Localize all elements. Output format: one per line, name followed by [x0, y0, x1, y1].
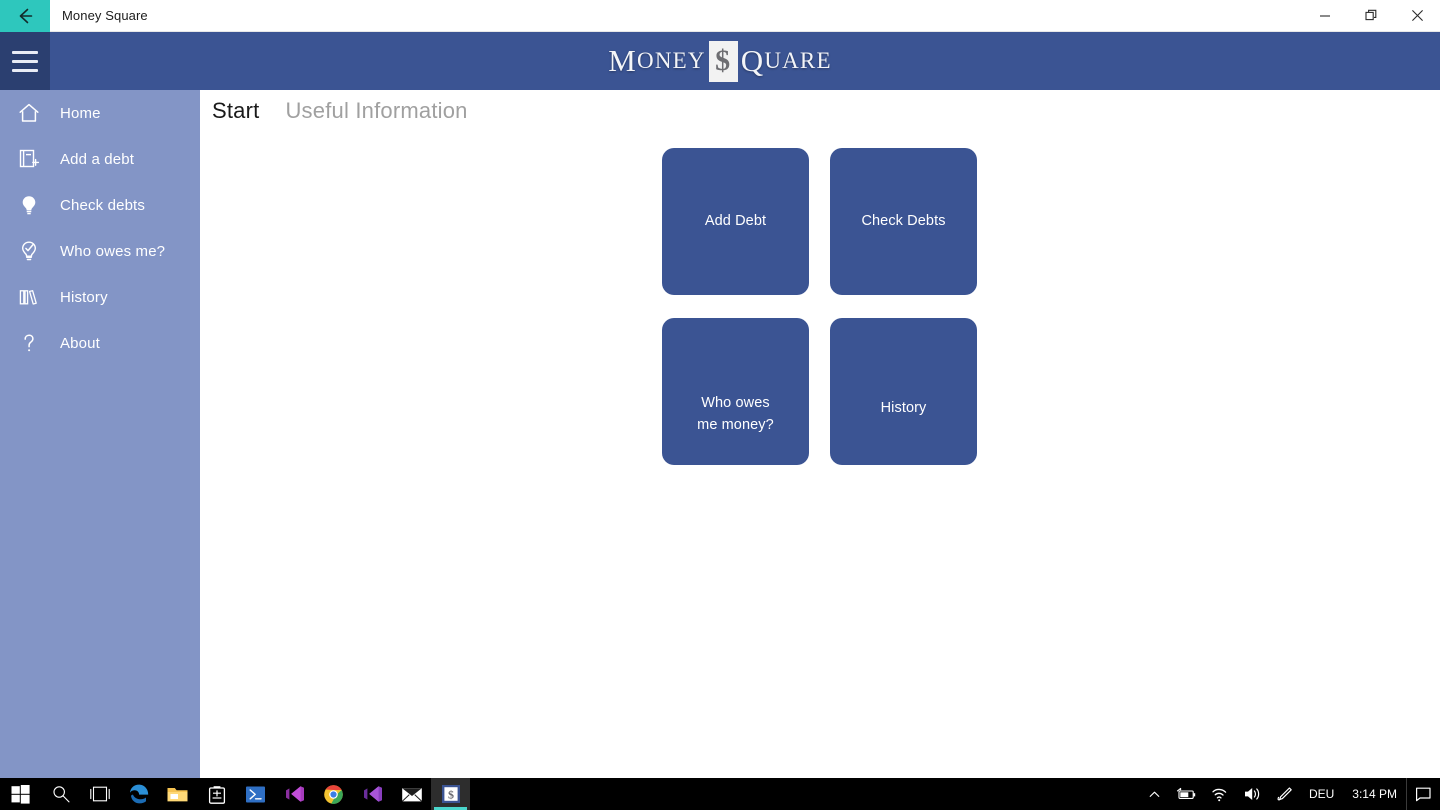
- sidebar-item-who-owes-me[interactable]: Who owes me?: [0, 228, 200, 274]
- chrome-button[interactable]: [314, 778, 353, 810]
- books-icon: [15, 283, 43, 311]
- sidebar-item-about[interactable]: About: [0, 320, 200, 366]
- tray-expand-button[interactable]: [1141, 778, 1168, 810]
- book-plus-icon: [15, 145, 43, 173]
- volume-button[interactable]: [1236, 778, 1269, 810]
- tile-label-who-owes-me-money: Who owes me money?: [689, 393, 782, 435]
- sidebar-label-add-a-debt: Add a debt: [60, 151, 134, 168]
- language-indicator[interactable]: DEU: [1300, 778, 1343, 810]
- pen-ink-icon: [1276, 786, 1293, 803]
- system-tray: DEU 3:14 PM: [1141, 778, 1440, 810]
- sidebar-item-home[interactable]: Home: [0, 90, 200, 136]
- question-mark-icon: [15, 329, 43, 357]
- tile-label-check-debts: Check Debts: [853, 211, 953, 232]
- chrome-icon: [323, 784, 344, 805]
- sidebar-item-history[interactable]: History: [0, 274, 200, 320]
- sidebar-label-about: About: [60, 335, 100, 352]
- mail-button[interactable]: [392, 778, 431, 810]
- brand-uare: UARE: [764, 48, 831, 74]
- minimize-button[interactable]: [1302, 0, 1348, 32]
- close-icon: [1411, 9, 1424, 22]
- svg-text:$: $: [448, 787, 454, 801]
- content-tabs: Start Useful Information: [212, 98, 468, 124]
- brand-text: MONEY $ QUARE: [608, 41, 831, 82]
- brand-oney: ONEY: [637, 48, 706, 74]
- tile-who-owes-me-money[interactable]: Who owes me money?: [662, 318, 809, 465]
- notifications-button[interactable]: [1406, 778, 1440, 810]
- edge-browser-icon: [128, 783, 150, 805]
- tile-add-debt[interactable]: Add Debt: [662, 148, 809, 295]
- vscode-insiders-icon: [284, 784, 306, 804]
- mail-icon: [401, 786, 423, 803]
- hamburger-line-1: [12, 51, 38, 54]
- tile-check-debts[interactable]: Check Debts: [830, 148, 977, 295]
- tile-history[interactable]: History: [830, 318, 977, 465]
- home-icon: [15, 99, 43, 127]
- wifi-icon: [1211, 787, 1229, 802]
- lightbulb-filled-icon: [15, 191, 43, 219]
- sidebar-label-home: Home: [60, 105, 101, 122]
- dollar-sign-icon: $: [709, 41, 738, 82]
- start-button[interactable]: [0, 778, 41, 810]
- close-button[interactable]: [1394, 0, 1440, 32]
- window-title: Money Square: [62, 8, 148, 23]
- sidebar-label-history: History: [60, 289, 108, 306]
- store-button[interactable]: [197, 778, 236, 810]
- visual-studio-button[interactable]: [353, 778, 392, 810]
- sidebar-label-check-debts: Check debts: [60, 197, 145, 214]
- window-titlebar: Money Square: [0, 0, 1440, 32]
- money-square-taskbar-button[interactable]: $: [431, 778, 470, 810]
- back-button[interactable]: [0, 0, 50, 32]
- powershell-button[interactable]: [236, 778, 275, 810]
- pen-workspace-button[interactable]: [1269, 778, 1300, 810]
- hamburger-menu-button[interactable]: [0, 32, 50, 90]
- search-button[interactable]: [41, 778, 80, 810]
- app-header: MONEY $ QUARE: [0, 32, 1440, 90]
- tile-row-2: Who owes me money? History: [662, 318, 978, 465]
- battery-icon: [1175, 787, 1197, 802]
- store-icon: [207, 784, 227, 805]
- tab-useful-information[interactable]: Useful Information: [285, 98, 467, 124]
- hamburger-line-3: [12, 69, 38, 72]
- window-controls: [1302, 0, 1440, 32]
- tile-row-1: Add Debt Check Debts: [662, 148, 978, 295]
- windows-taskbar: $: [0, 778, 1440, 810]
- chevron-up-icon: [1148, 788, 1161, 801]
- windows-start-icon: [11, 785, 30, 804]
- network-button[interactable]: [1204, 778, 1236, 810]
- powershell-icon: [245, 785, 266, 804]
- sidebar-item-check-debts[interactable]: Check debts: [0, 182, 200, 228]
- file-explorer-button[interactable]: [158, 778, 197, 810]
- money-square-app-icon: $: [441, 784, 461, 804]
- minimize-icon: [1319, 10, 1331, 22]
- taskbar-apps: $: [0, 778, 470, 810]
- app-brand-logo: MONEY $ QUARE: [0, 32, 1440, 90]
- notification-icon: [1415, 786, 1432, 802]
- sidebar-label-who-owes-me: Who owes me?: [60, 243, 165, 260]
- vscode-insiders-button[interactable]: [275, 778, 314, 810]
- restore-button[interactable]: [1348, 0, 1394, 32]
- tile-grid: Add Debt Check Debts Who owes me money? …: [662, 148, 978, 488]
- lightbulb-check-icon: [15, 237, 43, 265]
- visual-studio-icon: [362, 784, 384, 804]
- task-view-button[interactable]: [80, 778, 119, 810]
- volume-icon: [1243, 786, 1262, 802]
- navigation-sidebar: Home Add a debt Check debts: [0, 90, 200, 778]
- clock[interactable]: 3:14 PM: [1343, 778, 1406, 810]
- brand-q: Q: [741, 43, 765, 79]
- search-icon: [51, 784, 71, 804]
- sidebar-item-add-a-debt[interactable]: Add a debt: [0, 136, 200, 182]
- task-view-icon: [88, 785, 112, 803]
- edge-button[interactable]: [119, 778, 158, 810]
- brand-m: M: [608, 43, 637, 79]
- battery-button[interactable]: [1168, 778, 1204, 810]
- restore-icon: [1365, 9, 1378, 22]
- tile-label-add-debt: Add Debt: [697, 211, 774, 232]
- tab-start[interactable]: Start: [212, 98, 259, 124]
- main-content: Start Useful Information Add Debt Check …: [200, 90, 1440, 778]
- file-explorer-icon: [166, 785, 189, 804]
- tile-label-history: History: [873, 398, 935, 419]
- back-arrow-icon: [14, 5, 36, 27]
- hamburger-line-2: [12, 60, 38, 63]
